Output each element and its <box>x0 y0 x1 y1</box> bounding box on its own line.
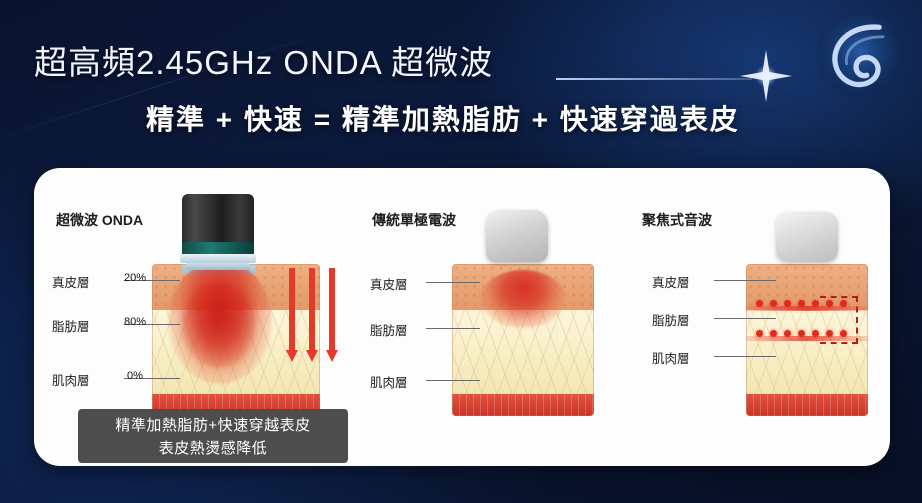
title-divider <box>556 78 752 80</box>
leader-line-muscle <box>714 356 776 357</box>
panel-title-onda: 超微波 ONDA <box>56 210 143 230</box>
panel-title-hifu: 聚焦式音波 <box>642 210 712 230</box>
leader-line-dermis <box>426 282 480 283</box>
layer-label-dermis: 真皮層 <box>652 272 690 291</box>
layer-label-fat: 脂肪層 <box>652 310 690 329</box>
layer-label-dermis: 真皮層 <box>370 274 408 293</box>
layer-label-muscle: 肌肉層 <box>652 348 690 367</box>
caption-box: 精準加熱脂肪+快速穿越表皮 表皮熱燙感降低 <box>78 409 348 463</box>
page-subtitle: 精準 + 快速 = 精準加熱脂肪 + 快速穿過表皮 <box>146 98 740 138</box>
layer-label-fat: 脂肪層 <box>52 316 90 335</box>
panel-title-rf: 傳統單極電波 <box>372 210 456 230</box>
leader-line-fat <box>714 318 776 319</box>
layer-value-fat: 80% <box>124 316 146 328</box>
rf-applicator-icon <box>486 210 548 262</box>
layer-value-dermis: 20% <box>124 272 146 284</box>
leader-line-dermis <box>714 280 776 281</box>
caption-line-2: 表皮熱燙感降低 <box>159 437 268 458</box>
spiral-wave-logo-icon <box>812 8 908 104</box>
layer-label-muscle: 肌肉層 <box>370 372 408 391</box>
hifu-transducer-icon <box>776 212 838 262</box>
skin-block-rf <box>452 264 594 416</box>
caption-line-1: 精準加熱脂肪+快速穿越表皮 <box>115 414 310 435</box>
leader-line-fat <box>426 328 480 329</box>
dashed-depth-bracket-icon <box>820 296 858 344</box>
skin-block-outline <box>452 264 594 416</box>
panel-hifu: 聚焦式音波 <box>604 168 890 466</box>
layer-label-fat: 脂肪層 <box>370 320 408 339</box>
layer-value-muscle: 0% <box>127 370 143 382</box>
four-point-star-icon <box>738 48 794 104</box>
slide-canvas: 超高頻2.45GHz ONDA 超微波 精準 + 快速 = 精準加熱脂肪 + 快… <box>0 0 922 503</box>
panel-monopolar-rf: 傳統單極電波 真皮層 脂肪層 肌肉層 <box>334 168 604 466</box>
layer-label-muscle: 肌肉層 <box>52 370 90 389</box>
page-title: 超高頻2.45GHz ONDA 超微波 <box>34 36 493 84</box>
leader-line-muscle <box>426 380 480 381</box>
layer-label-dermis: 真皮層 <box>52 272 90 291</box>
